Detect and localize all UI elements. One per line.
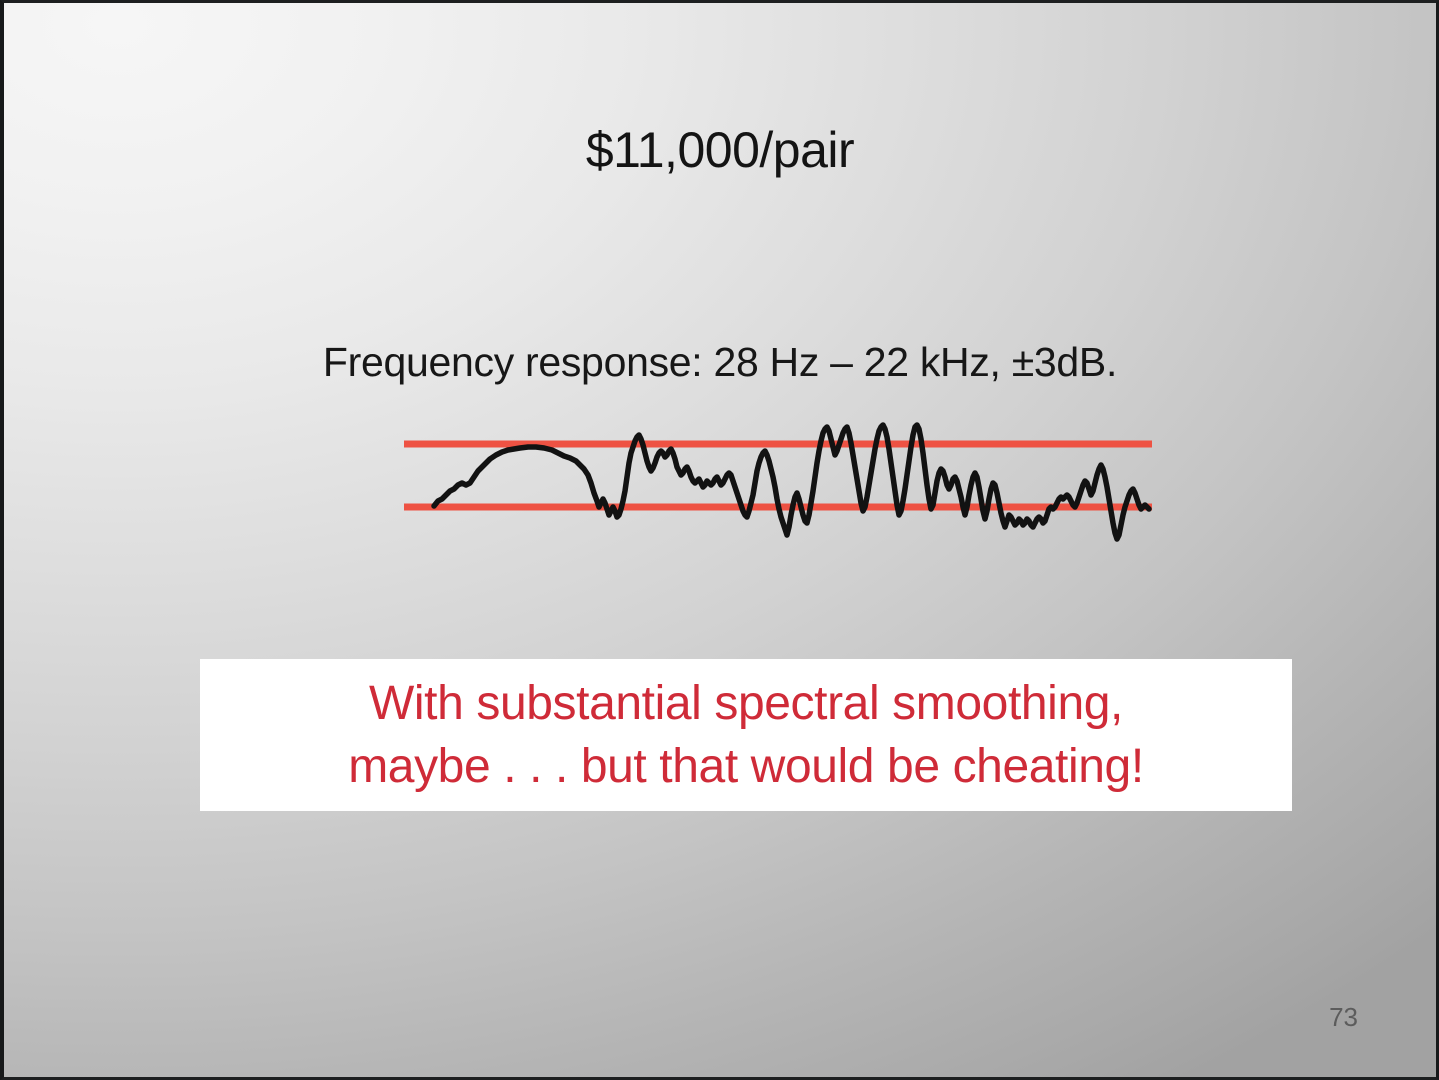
callout-line-1: With substantial spectral smoothing,	[369, 672, 1123, 735]
chart-svg	[384, 411, 1174, 571]
callout-line-2: maybe . . . but that would be cheating!	[348, 735, 1144, 798]
frequency-response-spec: Frequency response: 28 Hz – 22 kHz, ±3dB…	[4, 339, 1436, 386]
page-number: 73	[1329, 1002, 1358, 1033]
frequency-response-chart	[384, 411, 1174, 571]
page-title: $11,000/pair	[4, 121, 1436, 179]
slide-canvas: $11,000/pair Frequency response: 28 Hz –…	[0, 0, 1439, 1080]
callout-box: With substantial spectral smoothing, may…	[200, 659, 1292, 811]
